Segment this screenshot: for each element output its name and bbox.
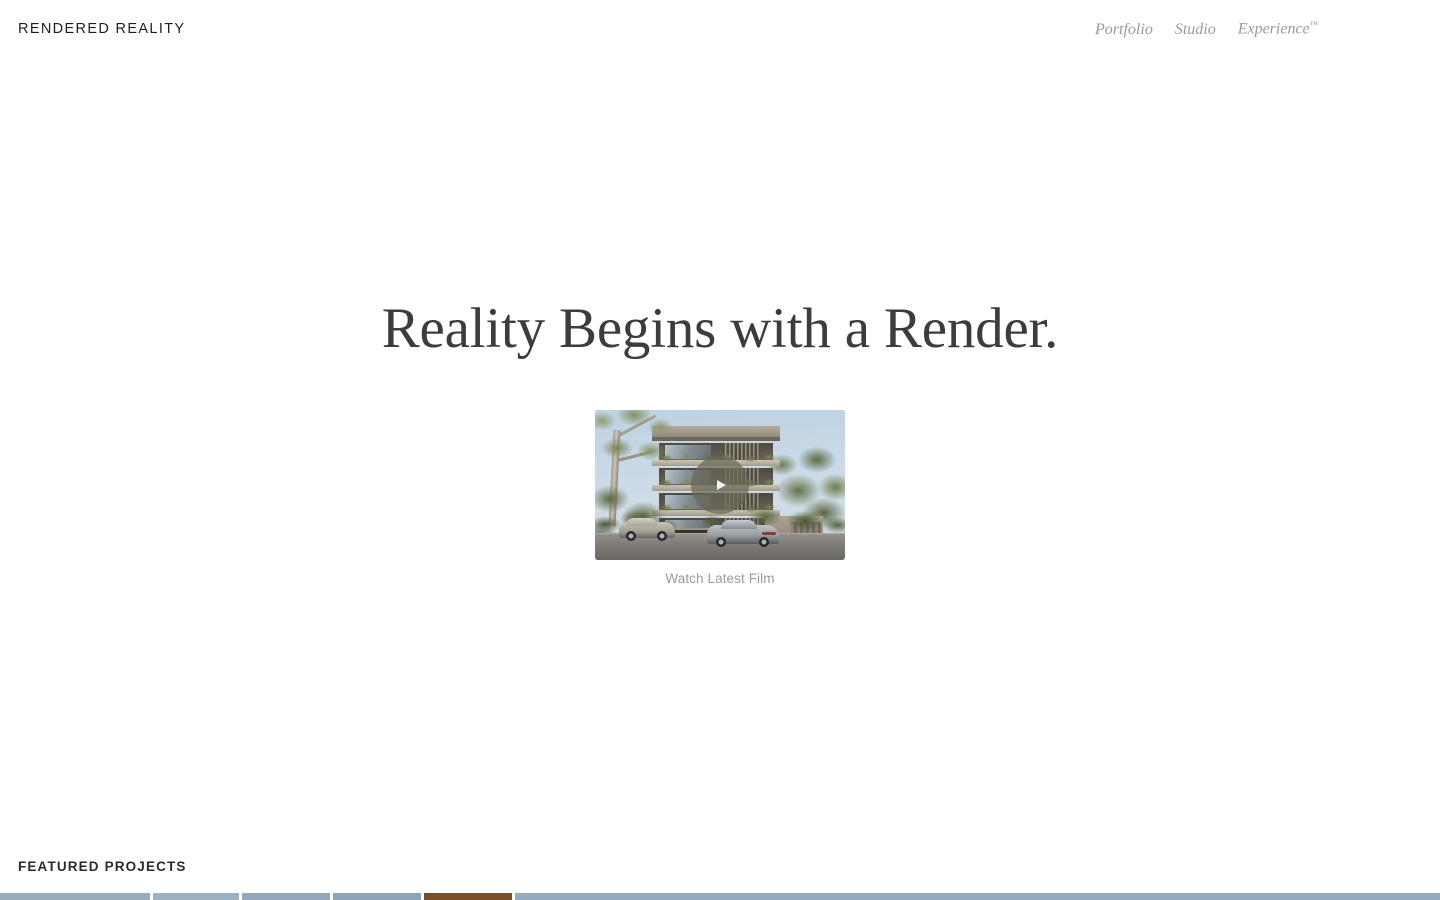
nav-item-experience[interactable]: Experience™ (1238, 20, 1318, 37)
project-thumb-3[interactable] (242, 893, 330, 900)
project-thumb-2[interactable] (153, 893, 239, 900)
render-car-sports (707, 525, 779, 544)
car-taillight (762, 532, 776, 535)
nav-item-experience-label: Experience (1238, 21, 1310, 38)
main-navigation: Portfolio Studio Experience™ (1095, 20, 1422, 37)
render-car-sedan (619, 522, 675, 538)
nav-item-portfolio[interactable]: Portfolio (1095, 22, 1153, 38)
project-thumb-4[interactable] (333, 893, 421, 900)
car-wheel (657, 531, 667, 541)
trademark-symbol: ™ (1310, 19, 1318, 29)
hero-video-block: Watch Latest Film (595, 357, 845, 586)
brand-logo[interactable]: RENDERED REALITY (18, 22, 185, 37)
featured-projects-title: FEATURED PROJECTS (0, 860, 1440, 874)
project-thumb-6[interactable] (515, 893, 1440, 900)
project-thumb-1[interactable] (0, 893, 150, 900)
play-triangle (717, 480, 726, 490)
page-title: Reality Begins with a Render. (0, 300, 1440, 357)
featured-projects-strip[interactable] (0, 893, 1440, 900)
video-caption[interactable]: Watch Latest Film (595, 571, 845, 586)
nav-item-studio[interactable]: Studio (1175, 22, 1216, 38)
car-wheel (626, 531, 636, 541)
hero-section: Reality Begins with a Render. (0, 300, 1440, 586)
project-thumb-5[interactable] (424, 893, 512, 900)
car-wheel (759, 537, 769, 547)
featured-projects-section: FEATURED PROJECTS (0, 860, 1440, 874)
play-icon[interactable] (691, 456, 749, 514)
site-header: RENDERED REALITY Portfolio Studio Experi… (0, 0, 1440, 58)
car-wheel (716, 537, 726, 547)
page-root: RENDERED REALITY Portfolio Studio Experi… (0, 0, 1440, 900)
video-thumbnail[interactable] (595, 410, 845, 560)
